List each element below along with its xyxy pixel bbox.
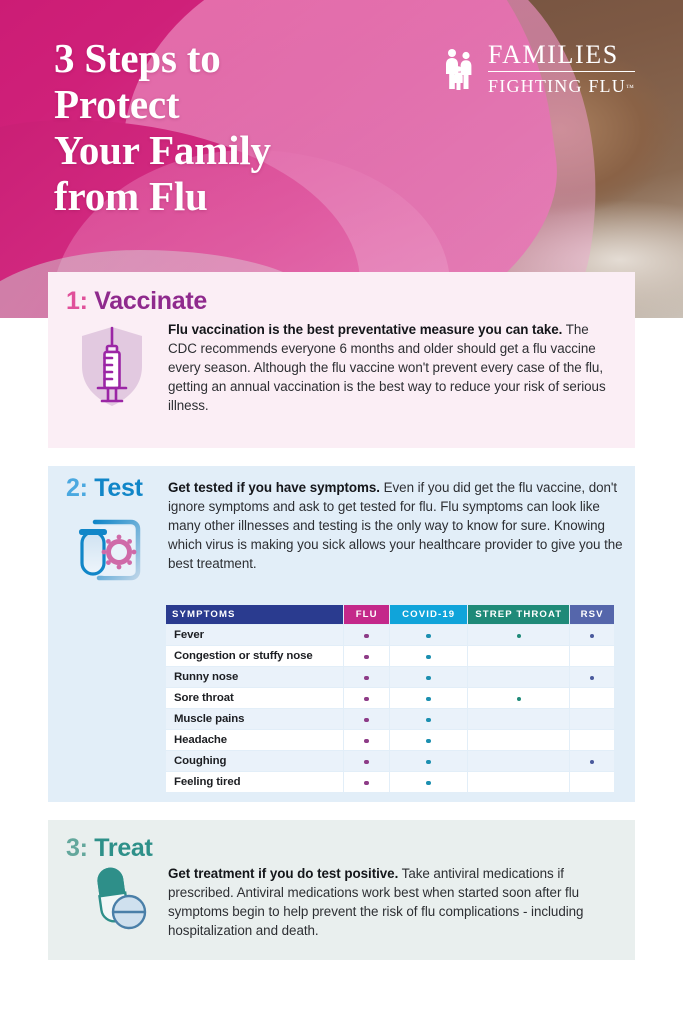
symptom-flu-cell <box>344 730 389 750</box>
step-number-3: 3: <box>66 834 88 862</box>
symptom-flu-cell <box>344 751 389 771</box>
header-banner: 3 Steps to Protect Your Family from Flu … <box>0 0 683 318</box>
symptom-strep-cell <box>468 688 569 708</box>
step-title-1: Vaccinate <box>94 287 207 315</box>
test-tube-virus-icon <box>73 514 149 586</box>
step-panel-treat: 3: Treat Get treatment if you do test po… <box>48 820 635 960</box>
symptom-flu-cell <box>344 709 389 729</box>
symptom-table-body: FeverCongestion or stuffy noseRunny nose… <box>166 625 614 792</box>
symptom-covid-cell <box>390 730 467 750</box>
symptom-covid-cell <box>390 709 467 729</box>
symptom-flu-cell <box>344 772 389 792</box>
table-row: Congestion or stuffy nose <box>166 646 614 666</box>
symptom-covid-cell <box>390 667 467 687</box>
step-panel-test: 2: Test <box>48 466 635 802</box>
symptom-name-cell: Congestion or stuffy nose <box>166 646 343 666</box>
table-row: Coughing <box>166 751 614 771</box>
step-lead-2: Get tested if you have symptoms. <box>168 480 380 495</box>
symptom-name-cell: Runny nose <box>166 667 343 687</box>
symptom-rsv-cell <box>570 625 614 645</box>
step-title-2: Test <box>94 474 142 502</box>
symptom-name-cell: Coughing <box>166 751 343 771</box>
symptom-strep-cell <box>468 667 569 687</box>
symptom-dot-rsv <box>590 760 595 765</box>
symptom-name-cell: Fever <box>166 625 343 645</box>
trademark-symbol: ™ <box>626 83 635 92</box>
syringe-shield-icon <box>78 324 146 410</box>
symptom-rsv-cell <box>570 751 614 771</box>
step-number-2: 2: <box>66 474 88 502</box>
table-row: Runny nose <box>166 667 614 687</box>
step-number-1: 1: <box>66 287 88 315</box>
symptom-strep-cell <box>468 751 569 771</box>
symptom-dot-covid <box>426 697 431 702</box>
symptom-covid-cell <box>390 646 467 666</box>
symptom-dot-flu <box>364 739 369 744</box>
symptom-strep-cell <box>468 772 569 792</box>
step-lead-1: Flu vaccination is the best preventative… <box>168 322 562 337</box>
symptom-covid-cell <box>390 625 467 645</box>
symptom-dot-covid <box>426 634 431 639</box>
symptom-comparison-table: SYMPTOMS FLU COVID-19 STREP THROAT RSV F… <box>165 604 615 793</box>
col-header-rsv: RSV <box>570 605 614 624</box>
symptom-rsv-cell <box>570 646 614 666</box>
symptom-covid-cell <box>390 772 467 792</box>
symptom-dot-flu <box>364 655 369 660</box>
symptom-strep-cell <box>468 709 569 729</box>
symptom-strep-cell <box>468 730 569 750</box>
logo-line-families: FAMILIES <box>488 42 635 72</box>
symptom-rsv-cell <box>570 688 614 708</box>
symptom-dot-rsv <box>590 634 595 639</box>
col-header-symptoms: SYMPTOMS <box>166 605 343 624</box>
symptom-rsv-cell <box>570 667 614 687</box>
table-row: Feeling tired <box>166 772 614 792</box>
symptom-strep-cell <box>468 646 569 666</box>
symptom-name-cell: Headache <box>166 730 343 750</box>
step-lead-3: Get treatment if you do test positive. <box>168 866 398 881</box>
symptom-dot-rsv <box>590 676 595 681</box>
symptom-dot-flu <box>364 697 369 702</box>
symptom-covid-cell <box>390 688 467 708</box>
step-heading-3: 3: Treat <box>66 836 153 861</box>
symptom-strep-cell <box>468 625 569 645</box>
step-title-3: Treat <box>94 834 152 862</box>
symptom-dot-covid <box>426 781 431 786</box>
table-row: Muscle pains <box>166 709 614 729</box>
symptom-dot-covid <box>426 655 431 660</box>
page-title: 3 Steps to Protect Your Family from Flu <box>54 36 424 220</box>
col-header-flu: FLU <box>344 605 389 624</box>
symptom-dot-flu <box>364 781 369 786</box>
symptom-rsv-cell <box>570 772 614 792</box>
symptom-rsv-cell <box>570 730 614 750</box>
symptom-dot-strep <box>517 697 522 702</box>
step-panel-vaccinate: 1: Vaccinate <box>48 272 635 448</box>
table-row: Headache <box>166 730 614 750</box>
symptom-dot-strep <box>517 634 522 639</box>
symptom-dot-flu <box>364 760 369 765</box>
symptom-dot-covid <box>426 676 431 681</box>
symptom-name-cell: Sore throat <box>166 688 343 708</box>
symptom-dot-flu <box>364 634 369 639</box>
step-heading-1: 1: Vaccinate <box>66 289 207 314</box>
table-header-row: SYMPTOMS FLU COVID-19 STREP THROAT RSV <box>166 605 614 624</box>
step-body-2: Get tested if you have symptoms. Even if… <box>168 478 623 573</box>
table-row: Sore throat <box>166 688 614 708</box>
symptom-dot-covid <box>426 739 431 744</box>
family-figures-icon <box>444 47 478 91</box>
pill-capsule-icon <box>86 866 152 936</box>
symptom-flu-cell <box>344 667 389 687</box>
step-heading-2: 2: Test <box>66 476 143 501</box>
symptom-rsv-cell <box>570 709 614 729</box>
col-header-covid: COVID-19 <box>390 605 467 624</box>
symptom-name-cell: Feeling tired <box>166 772 343 792</box>
symptom-covid-cell <box>390 751 467 771</box>
symptom-flu-cell <box>344 688 389 708</box>
symptom-dot-flu <box>364 718 369 723</box>
symptom-dot-covid <box>426 760 431 765</box>
step-body-1: Flu vaccination is the best preventative… <box>168 320 618 415</box>
symptom-dot-flu <box>364 676 369 681</box>
brand-logo: FAMILIES FIGHTING FLU™ <box>444 42 635 95</box>
table-row: Fever <box>166 625 614 645</box>
symptom-name-cell: Muscle pains <box>166 709 343 729</box>
logo-wordmark: FAMILIES FIGHTING FLU™ <box>488 42 635 95</box>
infographic-page: 3 Steps to Protect Your Family from Flu … <box>0 0 683 1024</box>
logo-line-fighting-flu: FIGHTING FLU™ <box>488 77 635 95</box>
step-body-3: Get treatment if you do test positive. T… <box>168 864 628 940</box>
col-header-strep: STREP THROAT <box>468 605 569 624</box>
symptom-flu-cell <box>344 646 389 666</box>
symptom-dot-covid <box>426 718 431 723</box>
symptom-flu-cell <box>344 625 389 645</box>
